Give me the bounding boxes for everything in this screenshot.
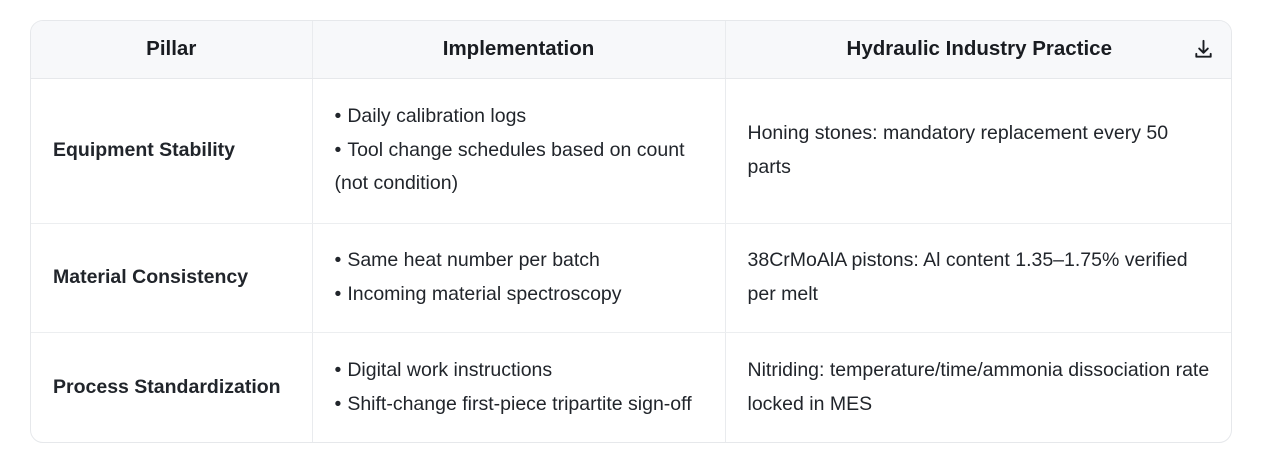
cell-pillar: Process Standardization (31, 333, 312, 442)
cell-implementation: •Daily calibration logs •Tool change sch… (312, 78, 725, 223)
bullet-icon: • (335, 393, 342, 415)
list-item: •Same heat number per batch (335, 244, 703, 278)
list-item-text: Daily calibration logs (347, 105, 526, 127)
bullet-icon: • (335, 105, 342, 127)
table-row: Material Consistency •Same heat number p… (31, 223, 1232, 333)
column-header-implementation-label: Implementation (327, 37, 711, 61)
column-header-practice-label: Hydraulic Industry Practice (740, 37, 1220, 61)
column-header-practice: Hydraulic Industry Practice (725, 21, 1232, 78)
cell-pillar: Material Consistency (31, 223, 312, 333)
list-item: •Tool change schedules based on count (n… (335, 134, 703, 201)
cell-practice: 38CrMoAlA pistons: Al content 1.35–1.75%… (725, 223, 1232, 333)
cell-implementation: •Digital work instructions •Shift-change… (312, 333, 725, 442)
table-header: Pillar Implementation Hydraulic Industry… (31, 21, 1232, 78)
list-item-text: Tool change schedules based on count (no… (335, 139, 685, 195)
download-icon[interactable] (1191, 37, 1215, 61)
bullet-icon: • (335, 359, 342, 381)
bullet-icon: • (335, 249, 342, 271)
column-header-pillar: Pillar (31, 21, 312, 78)
cell-implementation: •Same heat number per batch •Incoming ma… (312, 223, 725, 333)
bullet-icon: • (335, 139, 342, 161)
list-item: •Incoming material spectroscopy (335, 278, 703, 312)
cell-practice: Honing stones: mandatory replacement eve… (725, 78, 1232, 223)
implementation-bullet-list: •Daily calibration logs •Tool change sch… (335, 100, 703, 201)
list-item: •Shift-change first-piece tripartite sig… (335, 388, 703, 422)
list-item-text: Incoming material spectroscopy (347, 283, 621, 305)
comparison-table: Pillar Implementation Hydraulic Industry… (31, 21, 1232, 442)
table-header-row: Pillar Implementation Hydraulic Industry… (31, 21, 1232, 78)
list-item-text: Same heat number per batch (347, 249, 600, 271)
table-row: Equipment Stability •Daily calibration l… (31, 78, 1232, 223)
column-header-pillar-label: Pillar (45, 37, 298, 61)
column-header-implementation: Implementation (312, 21, 725, 78)
cell-practice: Nitriding: temperature/time/ammonia diss… (725, 333, 1232, 442)
list-item-text: Shift-change first-piece tripartite sign… (347, 393, 691, 415)
implementation-bullet-list: •Digital work instructions •Shift-change… (335, 354, 703, 421)
table-row: Process Standardization •Digital work in… (31, 333, 1232, 442)
list-item: •Digital work instructions (335, 354, 703, 388)
bullet-icon: • (335, 283, 342, 305)
table-body: Equipment Stability •Daily calibration l… (31, 78, 1232, 442)
implementation-bullet-list: •Same heat number per batch •Incoming ma… (335, 244, 703, 311)
list-item-text: Digital work instructions (347, 359, 552, 381)
list-item: •Daily calibration logs (335, 100, 703, 134)
cell-pillar: Equipment Stability (31, 78, 312, 223)
comparison-table-container: Pillar Implementation Hydraulic Industry… (30, 20, 1232, 443)
